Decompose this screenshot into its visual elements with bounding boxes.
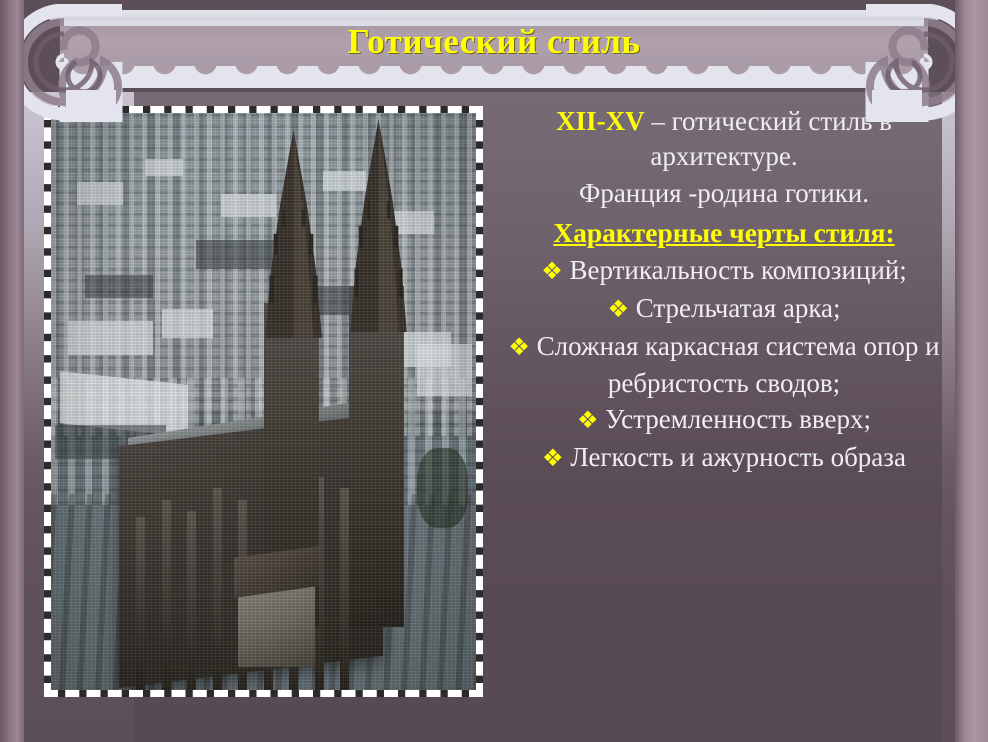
list-item-label: Вертикальность композиций; bbox=[569, 255, 906, 285]
list-item: ❖ Стрельчатая арка; bbox=[500, 291, 948, 328]
capital-abacus bbox=[48, 10, 940, 20]
diamond-bullet-icon: ❖ bbox=[541, 259, 563, 285]
list-item-label: Устремленность вверх; bbox=[605, 404, 871, 434]
photo-vignette bbox=[51, 113, 476, 690]
slide-header: Готический стиль bbox=[0, 0, 988, 92]
cathedral-photo bbox=[44, 106, 483, 697]
page-title: Готический стиль bbox=[0, 20, 988, 64]
diamond-bullet-icon: ❖ bbox=[508, 335, 530, 361]
diamond-bullet-icon: ❖ bbox=[607, 297, 629, 323]
frame-border-right bbox=[955, 0, 988, 742]
diamond-bullet-icon: ❖ bbox=[542, 446, 564, 472]
diamond-bullet-icon: ❖ bbox=[577, 408, 599, 434]
list-item: ❖ Вертикальность композиций; bbox=[500, 253, 948, 290]
presentation-slide: XII-XV – готический стиль в архитектуре.… bbox=[0, 0, 988, 742]
list-item-label: Сложная каркасная система опор и ребрист… bbox=[537, 331, 940, 398]
period-rest: – готический стиль в архитектуре. bbox=[645, 106, 892, 171]
frame-border-left bbox=[0, 0, 24, 742]
list-item: ❖ Устремленность вверх; bbox=[500, 402, 948, 439]
list-item-label: Легкость и ажурность образа bbox=[570, 442, 906, 472]
subheading-features: Характерные черты стиля: bbox=[500, 215, 948, 250]
list-item: ❖ Сложная каркасная система опор и ребри… bbox=[500, 329, 948, 401]
period-highlight: XII-XV bbox=[556, 106, 645, 136]
photo-canvas bbox=[51, 113, 476, 690]
list-item-label: Стрельчатая арка; bbox=[636, 293, 841, 323]
slide-text-block: XII-XV – готический стиль в архитектуре.… bbox=[500, 104, 948, 478]
scallop-band bbox=[62, 66, 926, 88]
line-france: Франция -родина готики. bbox=[500, 176, 948, 211]
list-item: ❖ Легкость и ажурность образа bbox=[500, 440, 948, 477]
